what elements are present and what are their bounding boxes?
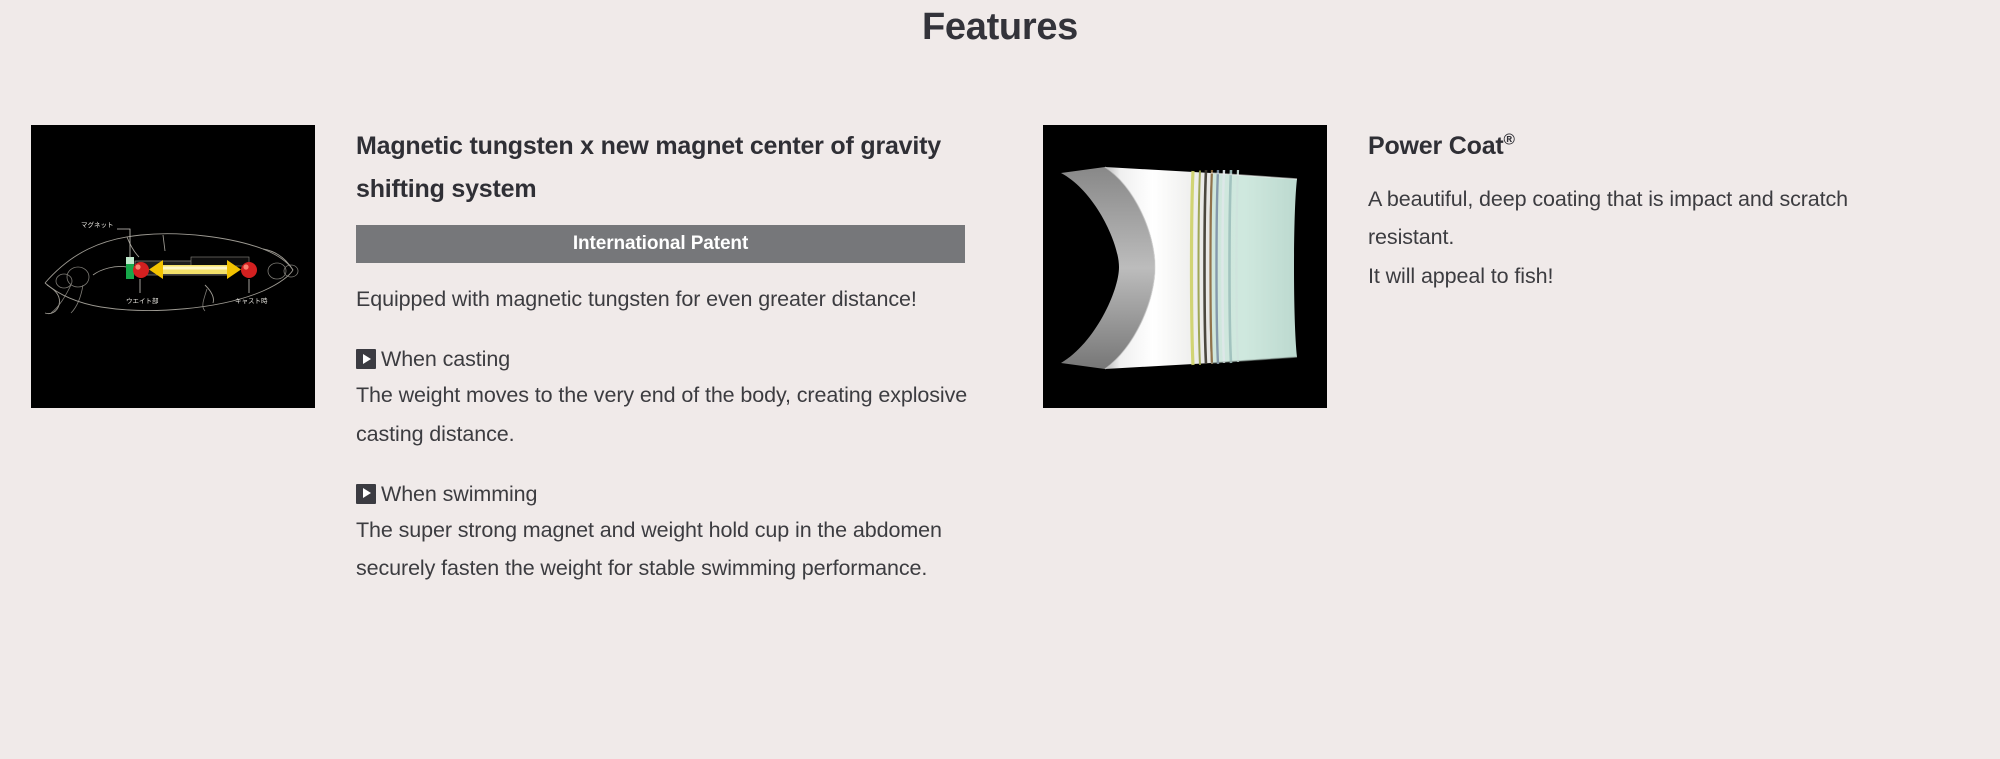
subsection-paragraph: The super strong magnet and weight hold … [356,511,976,588]
patent-banner: International Patent [356,225,965,263]
registered-trademark-symbol: ® [1504,132,1515,149]
feature-description: A beautiful, deep coating that is impact… [1368,180,1928,295]
diagram-label-weight-front: ウエイト部 [126,296,159,305]
feature-text-power-coat: Power Coat® A beautiful, deep coating th… [1327,125,1963,295]
feature-description-line-2: It will appeal to fish! [1368,257,1928,295]
subsection-when-swimming: When swimming The super strong magnet an… [356,479,981,588]
feature-heading-label: Power Coat [1368,132,1504,160]
feature-description-line-1: A beautiful, deep coating that is impact… [1368,187,1848,249]
subsection-paragraph: The weight moves to the very end of the … [356,376,976,453]
play-icon [356,484,376,504]
patent-banner-label: International Patent [573,233,748,255]
subsection-heading: When casting [356,344,981,374]
feature-text-magnetic-tungsten: Magnetic tungsten x new magnet center of… [315,125,981,588]
subsection-label: When casting [381,344,510,374]
subsection-when-casting: When casting The weight moves to the ver… [356,344,981,453]
feature-card-magnetic-tungsten: マグネット ウエイト部 キャスト時 Magnetic tungsten x ne… [31,125,981,588]
diagram-label-magnet: マグネット [81,220,114,229]
power-coat-cross-section [1043,125,1327,408]
lure-weight-shift-diagram: マグネット ウエイト部 キャスト時 [31,125,315,408]
subsection-label: When swimming [381,479,537,509]
features-section: Features [0,0,2000,759]
feature-card-power-coat: Power Coat® A beautiful, deep coating th… [1043,125,1963,408]
play-icon [356,349,376,369]
diagram-label-weight-rear: キャスト時 [235,297,268,305]
feature-heading: Power Coat® [1368,125,1963,168]
subsection-heading: When swimming [356,479,981,509]
feature-intro-paragraph: Equipped with magnetic tungsten for even… [356,280,976,318]
page-title: Features [0,0,2000,49]
feature-heading: Magnetic tungsten x new magnet center of… [356,125,971,211]
